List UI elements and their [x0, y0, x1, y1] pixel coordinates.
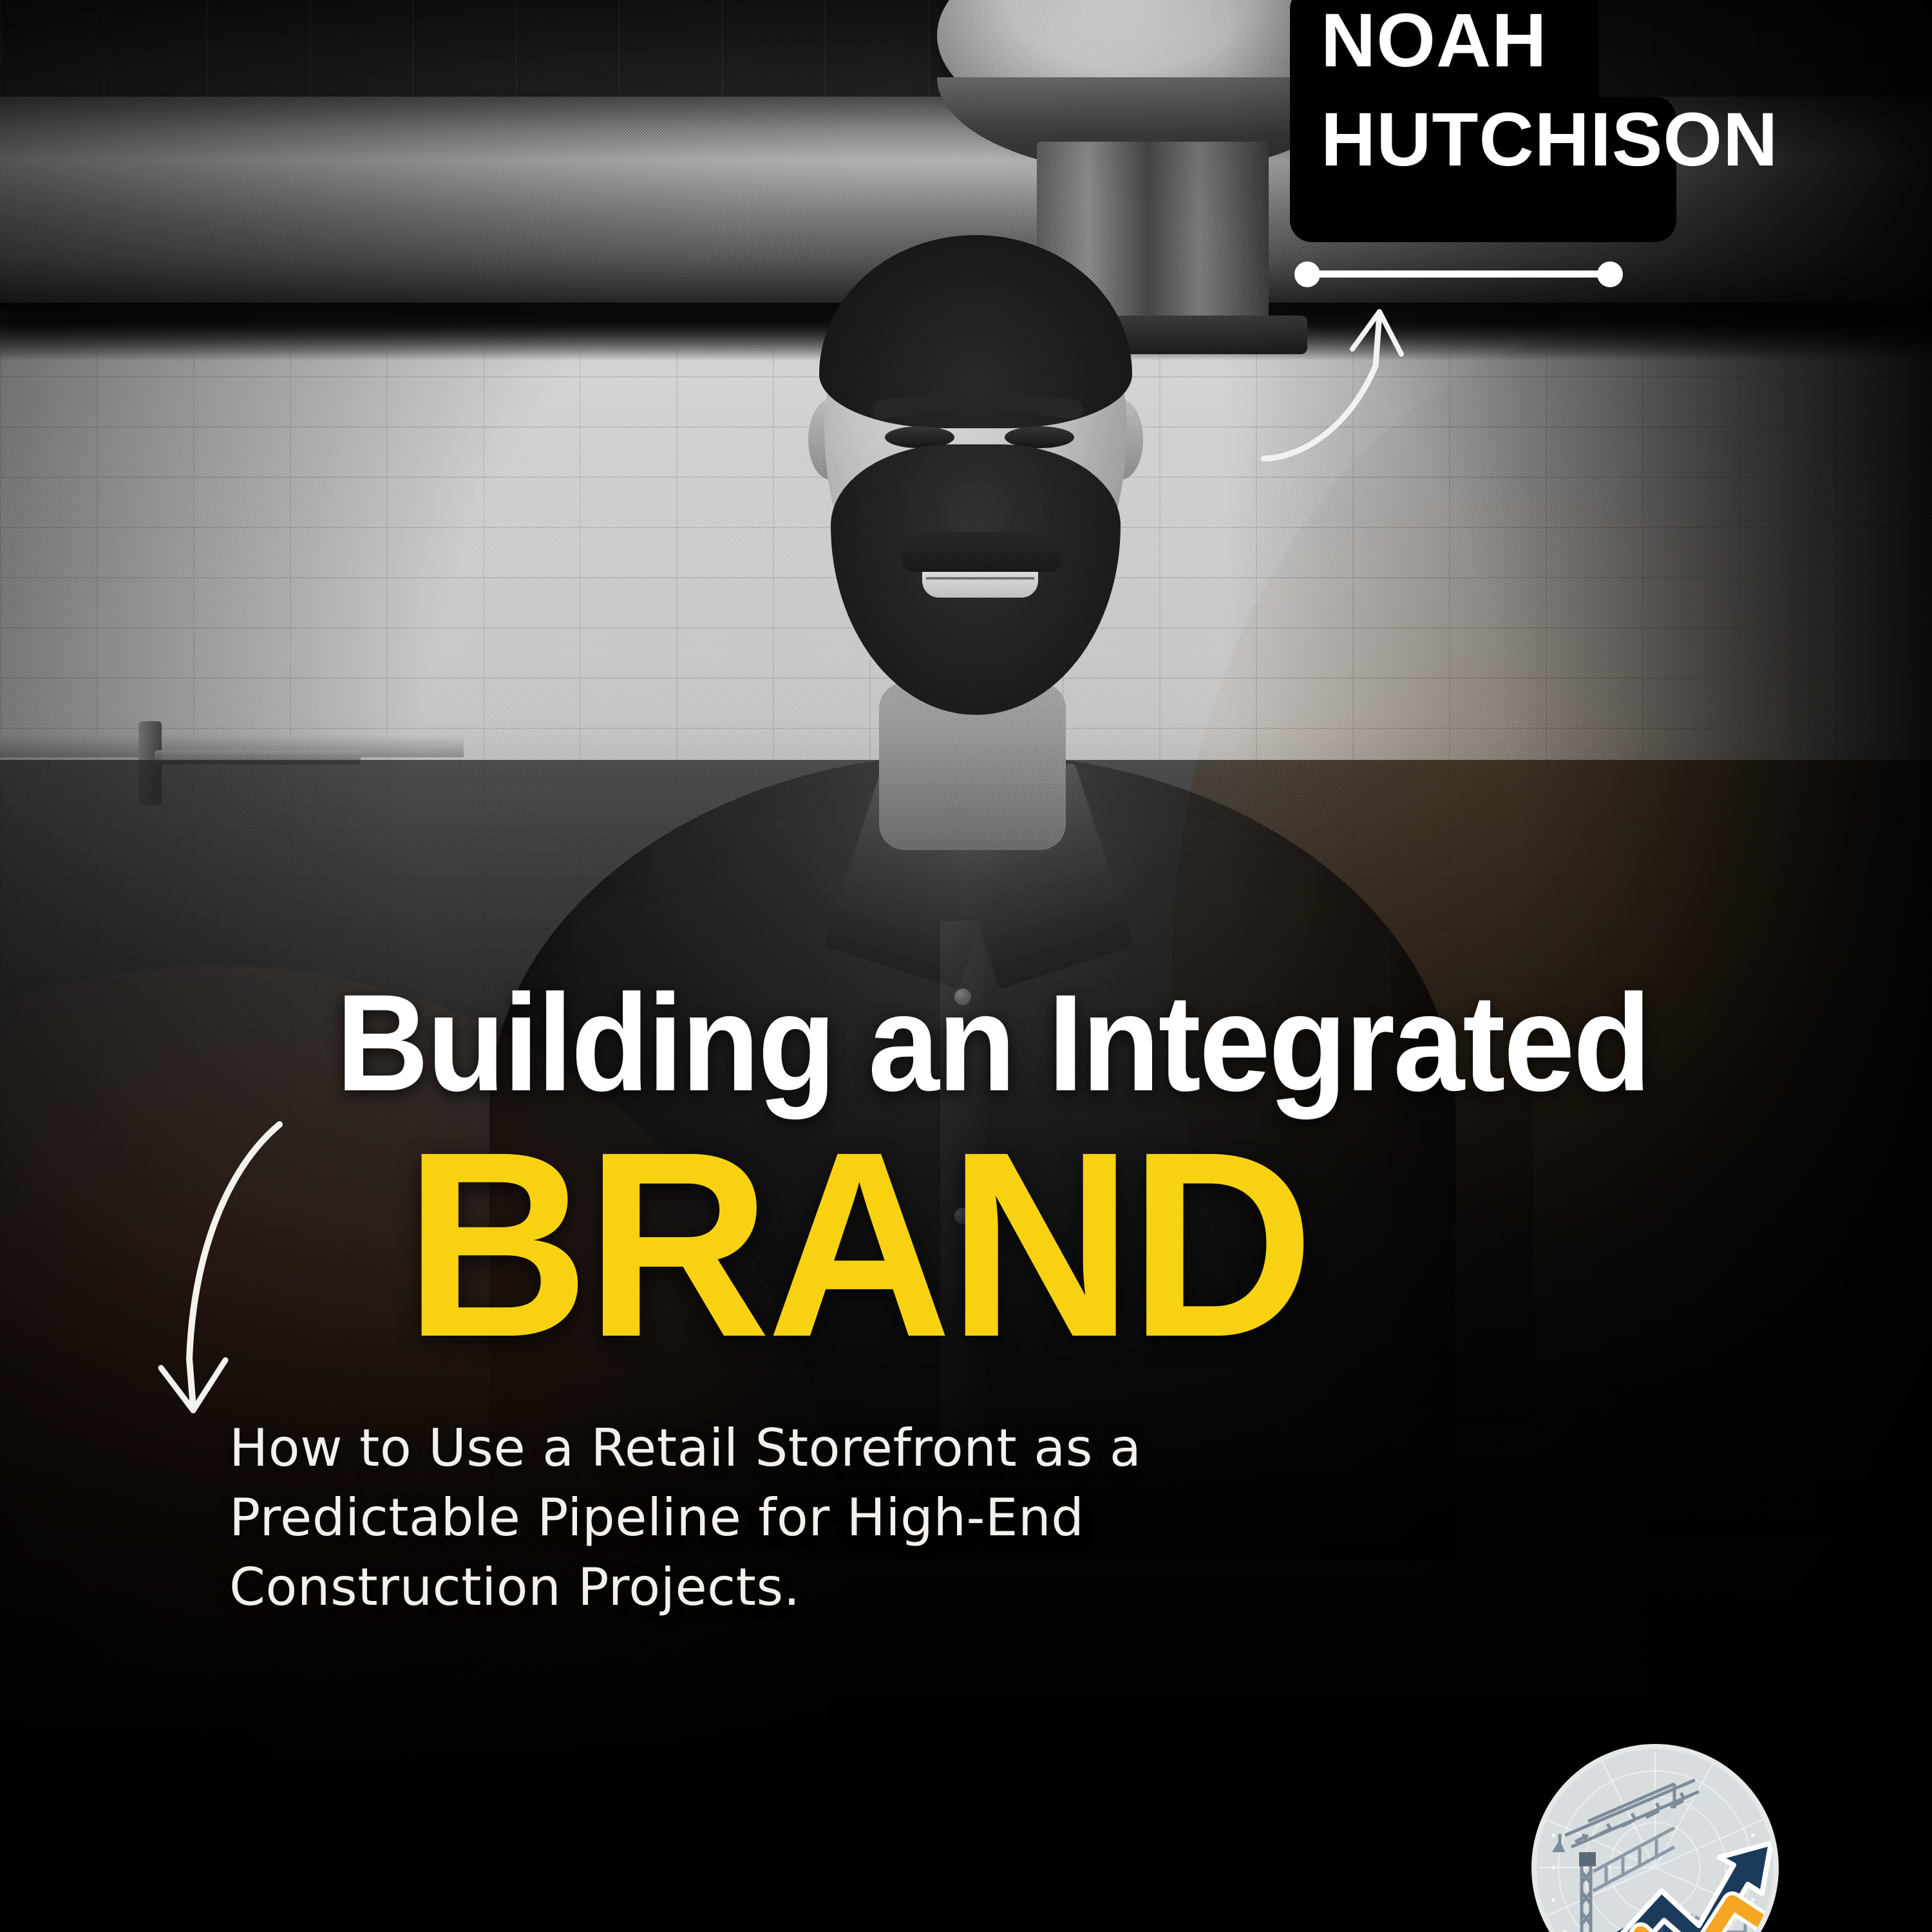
- construction-growth-logo: [1526, 1739, 1784, 1932]
- subtitle-line-1: How to Use a Retail Storefront as a: [229, 1414, 1324, 1483]
- dimension-bar: [1301, 270, 1616, 278]
- curved-arrow-down-icon: [148, 1108, 341, 1443]
- guest-last-name: HUTCHISON: [1321, 102, 1778, 178]
- dimension-line: [1294, 259, 1623, 289]
- dimension-dot-right: [1597, 261, 1623, 287]
- headline-eyebrow: Building an Integrated: [336, 979, 1649, 1108]
- subtitle-line-3: Construction Projects.: [229, 1553, 1324, 1622]
- subtitle-block: How to Use a Retail Storefront as a Pred…: [229, 1414, 1324, 1622]
- subtitle-line-2: Predictable Pipeline for High-End: [229, 1483, 1324, 1553]
- headline-keyword: BRAND: [404, 1128, 1311, 1360]
- curved-arrow-up-icon: [1249, 290, 1468, 483]
- guest-first-name: NOAH: [1321, 3, 1547, 79]
- episode-cover-poster: NOAH HUTCHISON Building an Integrated BR…: [0, 0, 1932, 1932]
- guest-name-badge: NOAH HUTCHISON: [1290, 0, 1676, 242]
